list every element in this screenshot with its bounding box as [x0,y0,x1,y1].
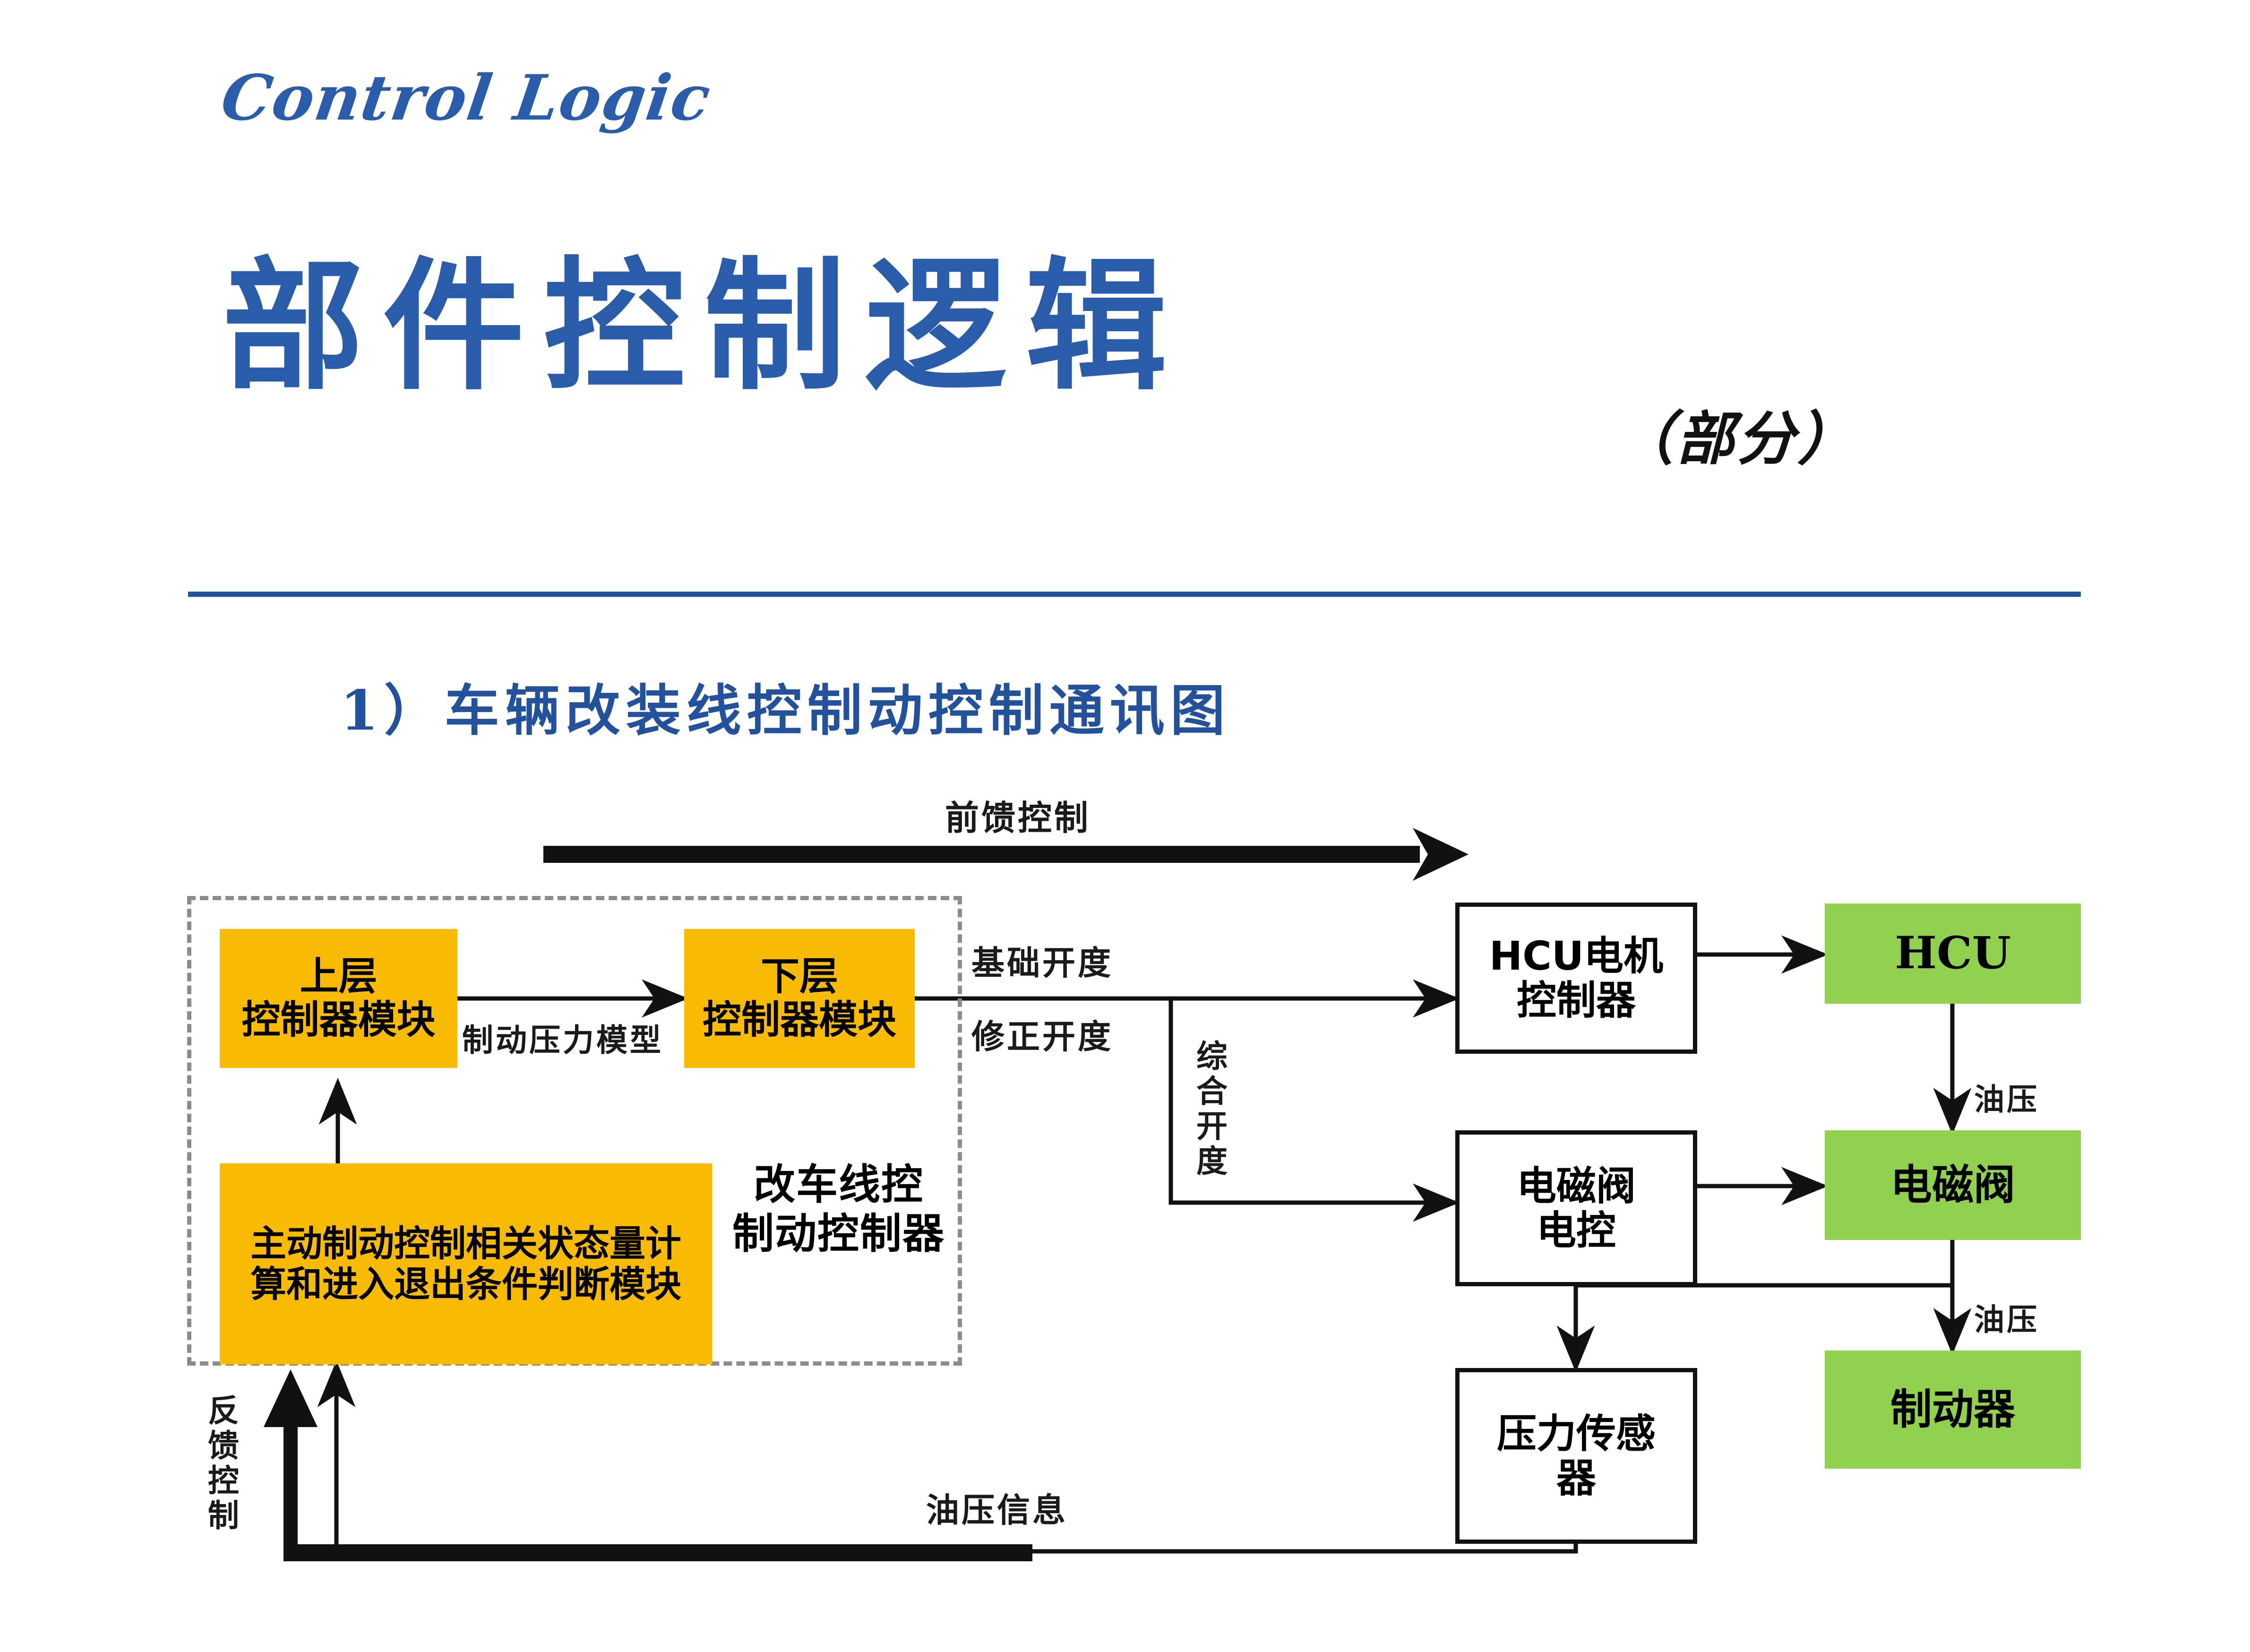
group-label: 改车线控 制动控制器 [728,1160,950,1258]
box-solenoid-valve[interactable]: 电磁阀 [1825,1130,2081,1240]
label-oil-pressure-hcu: 油压 [1974,1076,2039,1119]
box-pressure-sensor[interactable]: 压力传感 器 [1455,1368,1697,1544]
label-oil-pressure-info: 油压信息 [926,1484,1068,1532]
label-base-opening: 基础开度 [971,937,1113,984]
box-solenoid-ecu[interactable]: 电磁阀 电控 [1455,1130,1697,1286]
feedback-arrow [264,1369,1032,1561]
label-feedforward: 前馈控制 [945,790,1091,840]
control-flow-diagram: 改车线控 制动控制器 上层 控制器模块 下层 控制器模块 主动制动控制相关状态量… [0,0,2250,1652]
box-lower-controller[interactable]: 下层 控制器模块 [684,929,915,1068]
box-upper-controller[interactable]: 上层 控制器模块 [220,929,457,1068]
box-brake[interactable]: 制动器 [1825,1351,2081,1469]
slide-canvas: Control Logic 部件控制逻辑 （部分） 1）车辆改装线控制动控制通讯… [0,0,2250,1652]
box-state-calc-module[interactable]: 主动制动控制相关状态量计 算和进入退出条件判断模块 [220,1163,712,1364]
label-corrected-opening: 修正开度 [971,1010,1113,1058]
label-oil-pressure-brake: 油压 [1974,1296,2039,1339]
label-feedback: 反馈控制 [198,1394,244,1534]
label-brake-pressure-model: 制动压力模型 [462,1015,663,1060]
box-hcu[interactable]: HCU [1825,903,2081,1004]
box-hcu-motor-controller[interactable]: HCU电机 控制器 [1455,903,1697,1054]
label-combined-opening: 综合开度 [1187,1040,1232,1179]
